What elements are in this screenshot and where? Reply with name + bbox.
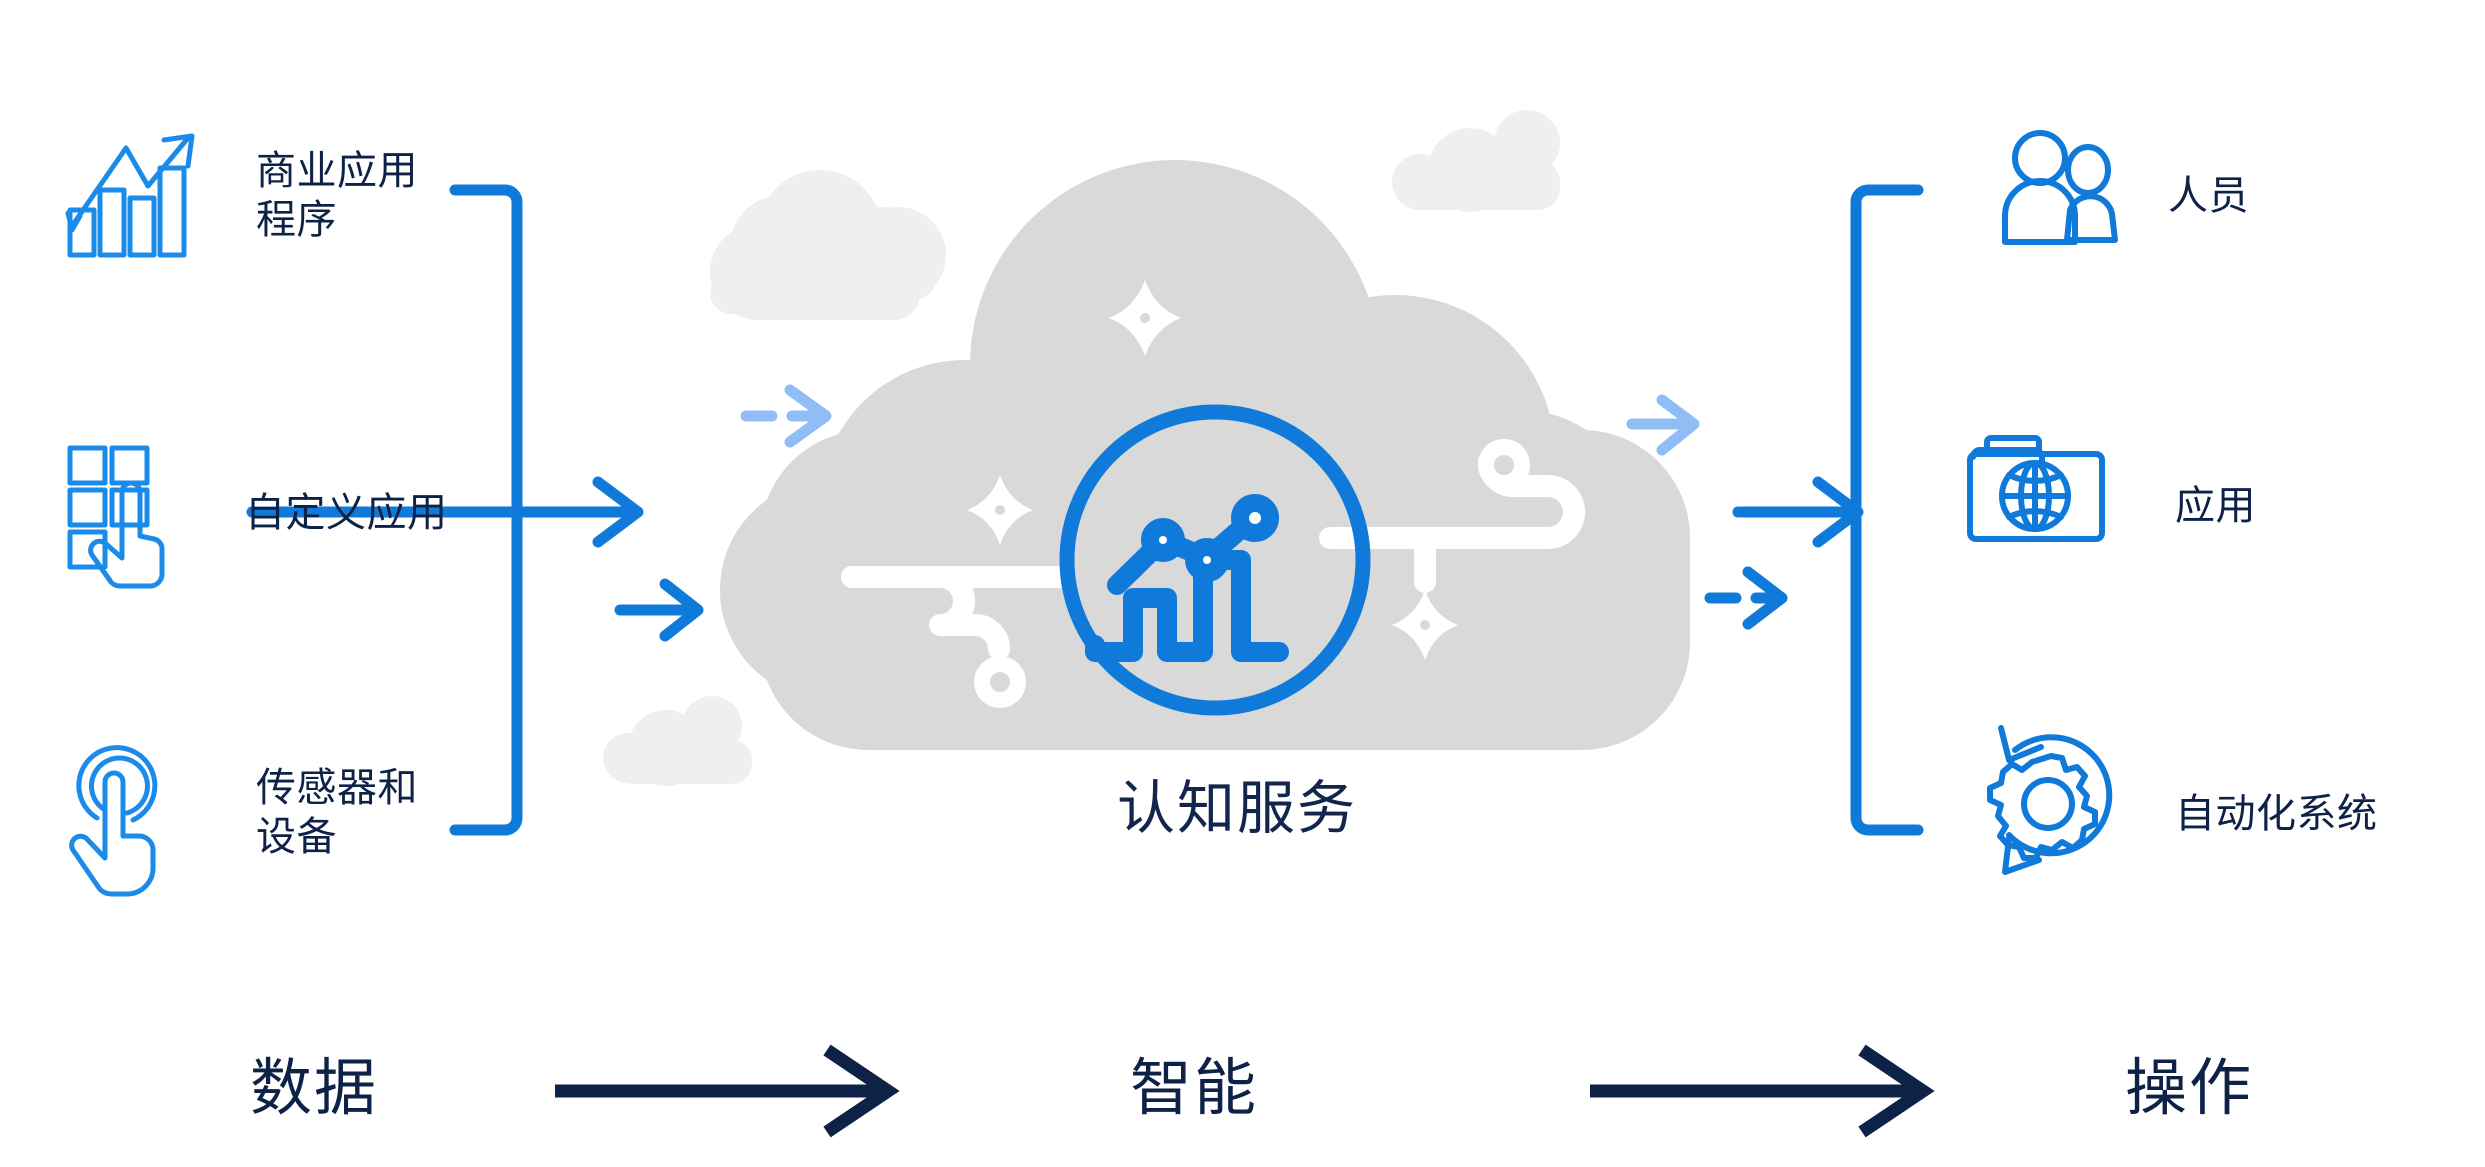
decorative-cloud-top-right [1392, 110, 1560, 212]
right-light-arrow-upper [1632, 400, 1694, 450]
center-label-cognitive-services: 认知服务 [1092, 780, 1382, 838]
left-solid-arrow-lower [620, 584, 698, 636]
input-label-business-apps: 商业应用 程序 [256, 147, 418, 245]
decorative-cloud-bottom-left [603, 696, 752, 786]
output-label-apps: 应用 [2175, 482, 2256, 531]
output-label-people: 人员 [2168, 172, 2249, 221]
folder-globe-icon [1965, 432, 2115, 552]
left-bracket [455, 190, 517, 830]
right-dashed-arrow-lower [1710, 572, 1782, 624]
growth-bar-chart-icon [60, 130, 200, 260]
cloud-sparkle-bottom [1392, 590, 1458, 660]
right-bracket [1856, 190, 1918, 830]
cloud-node-left [974, 656, 1026, 708]
left-dashed-arrow-upper [746, 390, 826, 442]
analytics-chart-circle-icon [1055, 400, 1375, 720]
stage-arrow-intelligence-to-action [1590, 1050, 1923, 1132]
input-label-sensors-devices: 传感器和 设备 [256, 764, 418, 862]
gear-refresh-icon [1985, 720, 2115, 875]
app-grid-tap-icon [62, 440, 192, 595]
stage-arrow-data-to-intelligence [555, 1050, 888, 1132]
cloud-sparkle-left [967, 475, 1033, 545]
cloud-node-right [1478, 439, 1530, 491]
cloud-sparkle-top [1109, 280, 1181, 356]
decorative-cloud-top-left [710, 170, 946, 320]
stage-label-action: 操作 [2125, 1058, 2253, 1120]
diagram-canvas: 商业应用 程序 自定义应用 传感器和 设备 人员 应用 自动化系统 认知服务 数… [0, 0, 2485, 1167]
input-label-custom-apps: 自定义应用 [245, 489, 448, 538]
stage-label-intelligence: 智能 [1130, 1058, 1258, 1120]
people-icon [1995, 130, 2125, 250]
cloud-circuit-left [852, 577, 1060, 649]
stage-label-data: 数据 [250, 1058, 378, 1120]
output-label-automation: 自动化系统 [2175, 790, 2378, 839]
sensor-tap-icon [55, 740, 185, 900]
right-bracket-arrow [1738, 482, 1858, 542]
